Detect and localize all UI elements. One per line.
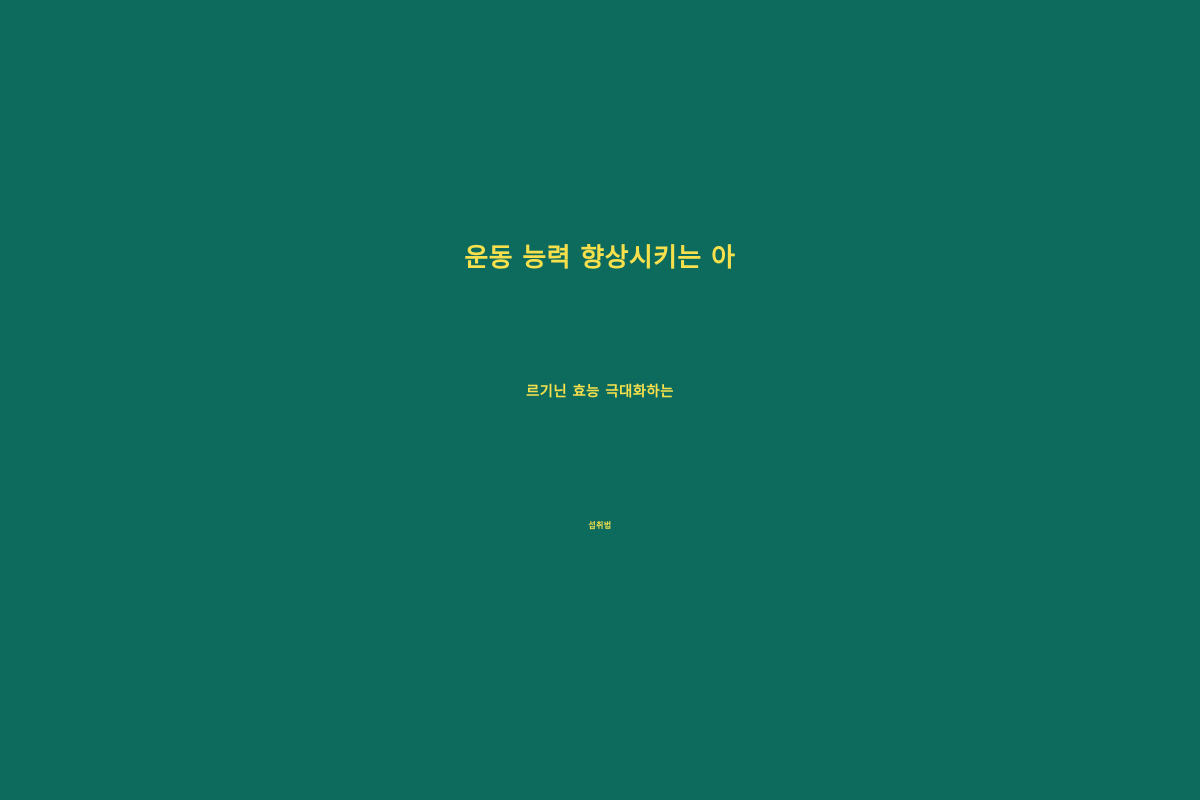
title-card: 운동 능력 향상시키는 아 르기닌 효능 극대화하는 섭취법 bbox=[0, 0, 1200, 800]
title-line-2: 르기닌 효능 극대화하는 bbox=[70, 325, 1130, 459]
title-line-1: 운동 능력 향상시키는 아 bbox=[70, 191, 1130, 325]
page-title: 운동 능력 향상시키는 아 르기닌 효능 극대화하는 섭취법 bbox=[70, 191, 1130, 593]
title-line-3: 섭취법 bbox=[70, 459, 1130, 593]
